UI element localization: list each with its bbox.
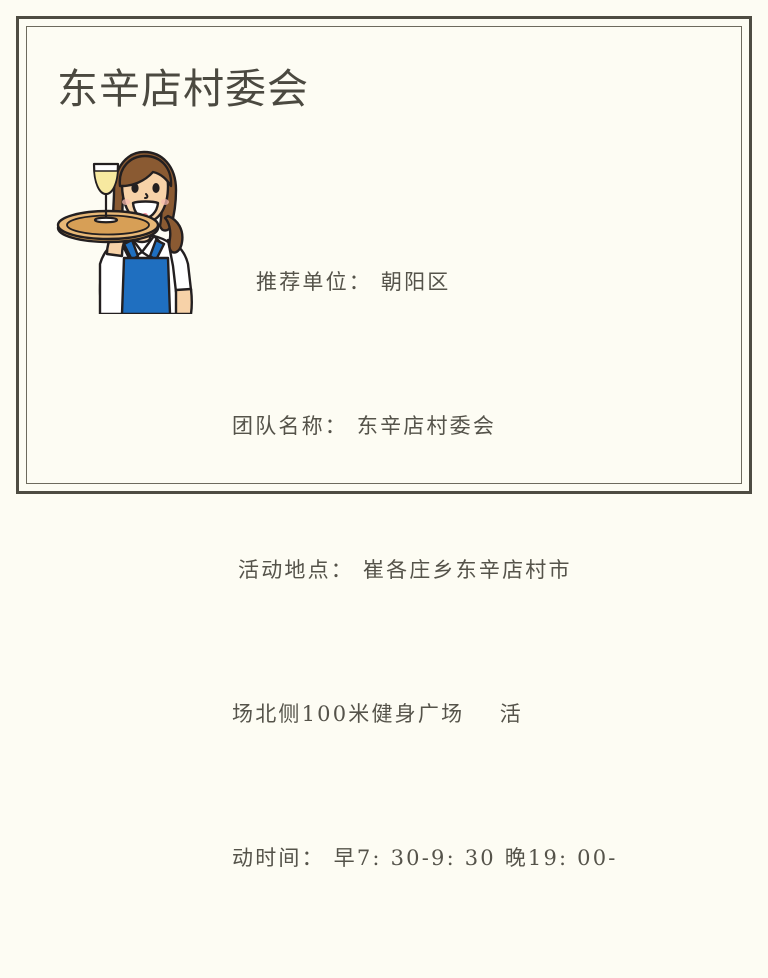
detail-line-recommending-unit: 推荐单位： 朝阳区 xyxy=(232,258,652,306)
waitress-with-tray-illustration xyxy=(52,140,208,314)
detail-line-team-name: 团队名称： 东辛店村委会 xyxy=(232,402,652,450)
detail-line-activity-place-2: 场北侧100米健身广场 活 xyxy=(232,690,652,738)
details-text-block: 推荐单位： 朝阳区 团队名称： 东辛店村委会 活动地点： 崔各庄乡东辛店村市 场… xyxy=(232,162,652,978)
detail-line-activity-place-1: 活动地点： 崔各庄乡东辛店村市 xyxy=(232,546,652,594)
page-title: 东辛店村委会 xyxy=(57,64,309,114)
poster-card: 东辛店村委会 xyxy=(0,0,768,510)
detail-line-activity-time: 动时间： 早7: 30-9: 30 晚19: 00- xyxy=(232,834,652,882)
